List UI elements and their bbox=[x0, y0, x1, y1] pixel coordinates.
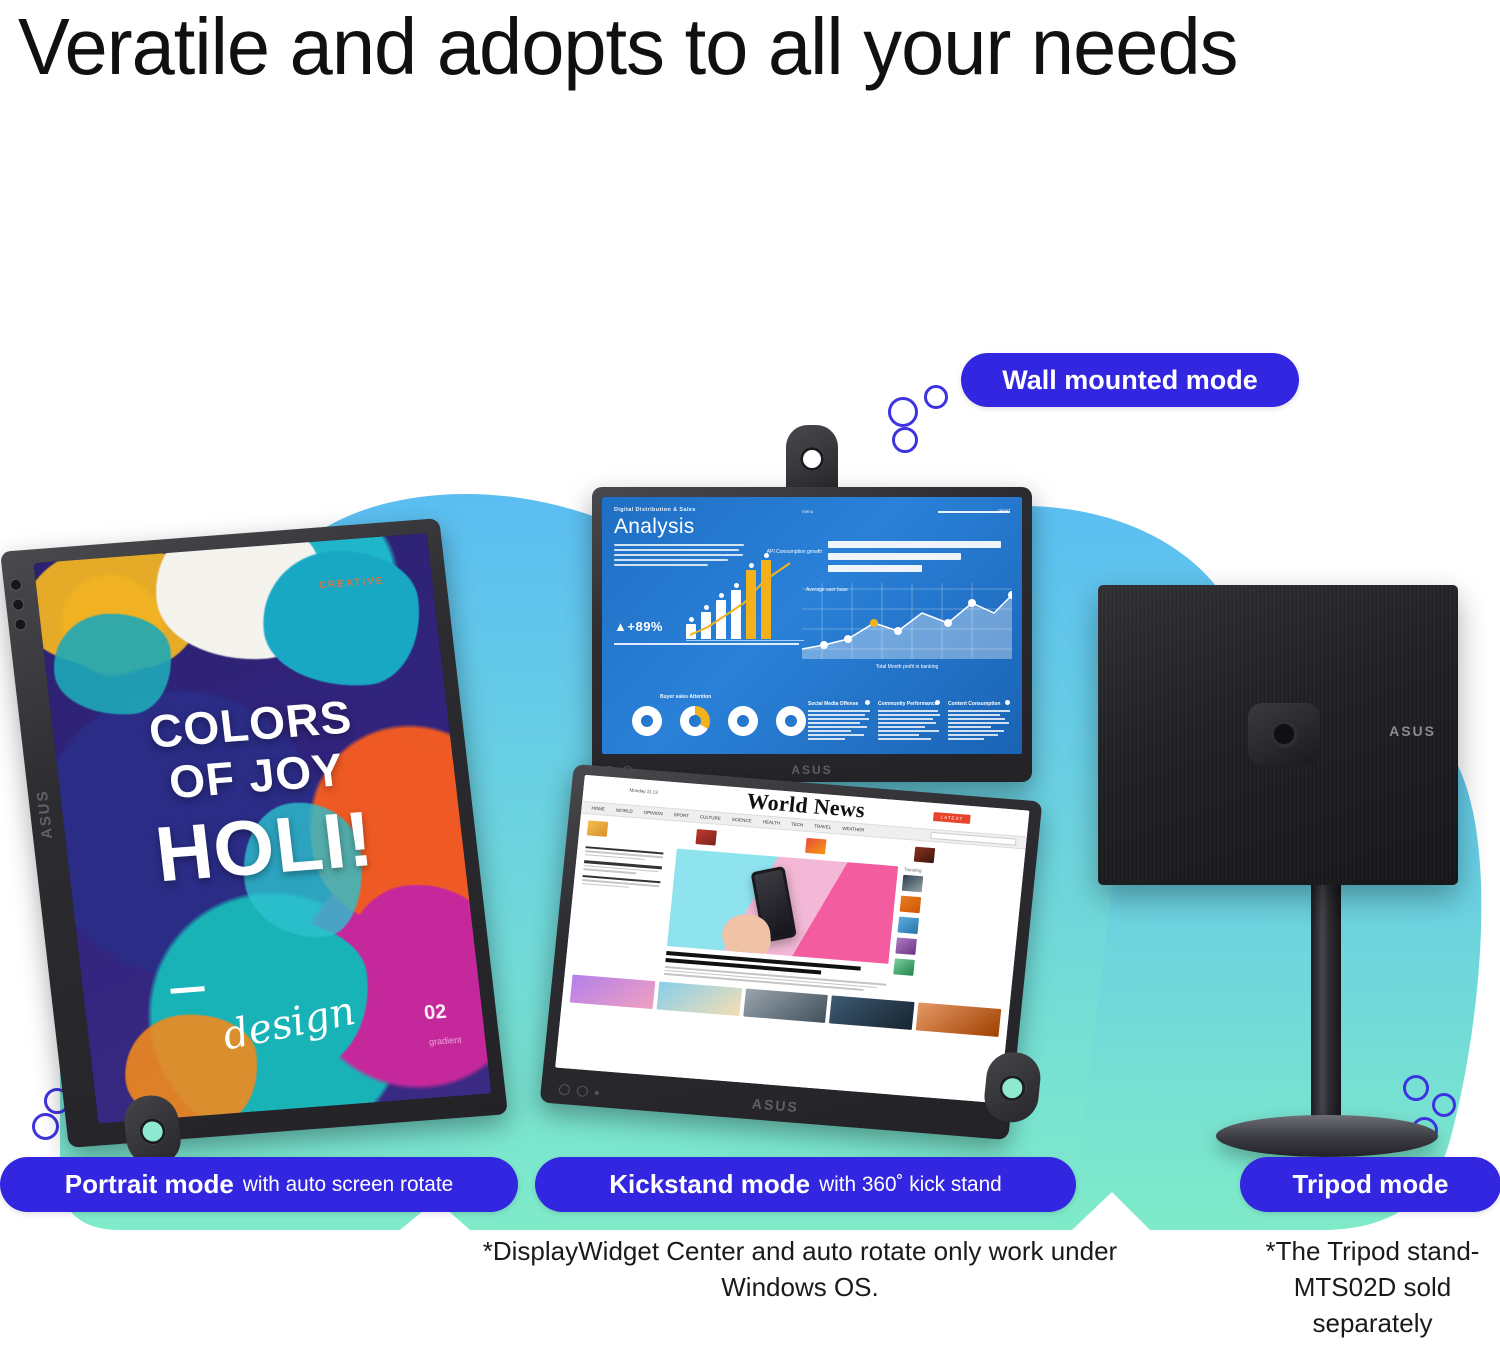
tripod-base bbox=[1216, 1115, 1438, 1157]
wall-mounted-monitor: Digital Distribution & Sales Analysis me… bbox=[592, 487, 1032, 782]
pill-bold-text: Tripod mode bbox=[1293, 1169, 1449, 1200]
hand-image bbox=[720, 912, 771, 960]
area-chart-footer: Total Month profit in banking bbox=[802, 664, 1012, 670]
vesa-mount bbox=[1248, 703, 1320, 765]
nav-item[interactable]: TECH bbox=[791, 822, 804, 828]
nav-item[interactable]: WORLD bbox=[616, 808, 633, 814]
column-title: Social Media Offense bbox=[808, 701, 870, 707]
artwork-text: COLORS OF JOY HOLI! bbox=[51, 684, 466, 901]
nav-item[interactable]: HEALTH bbox=[762, 819, 780, 825]
dashboard-trend-line bbox=[686, 555, 804, 641]
pill-bold-text: Wall mounted mode bbox=[1002, 365, 1258, 396]
story-item[interactable] bbox=[696, 829, 799, 852]
pill-normal-text: with auto screen rotate bbox=[243, 1173, 453, 1197]
donut-caption: Buyer sales Attention bbox=[660, 694, 711, 700]
asus-logo-bezel: ASUS bbox=[791, 763, 832, 777]
donut-3 bbox=[728, 706, 758, 736]
analysis-dashboard: Digital Distribution & Sales Analysis me… bbox=[602, 497, 1022, 754]
dashboard-donuts bbox=[632, 706, 806, 736]
artwork-number: 02 bbox=[423, 1000, 448, 1025]
column-title: Content Consumption bbox=[948, 701, 1010, 707]
news-screen: Monday 11.13 World News LATEST HOME WORL… bbox=[555, 775, 1029, 1103]
nav-item[interactable]: HOME bbox=[591, 806, 605, 812]
tripod-mode-monitor: ASUS bbox=[1098, 585, 1488, 1145]
news-hero-image bbox=[667, 849, 898, 964]
news-right-column: Trending bbox=[891, 867, 1015, 1004]
pill-bold-text: Portrait mode bbox=[65, 1169, 234, 1200]
dashboard-mid-label: menu bbox=[802, 509, 813, 514]
dashboard-area-chart: Average user base Total Month profit in … bbox=[802, 583, 1012, 659]
footnote-tripod: *The Tripod stand-MTS02D sold separately bbox=[1245, 1233, 1500, 1341]
column-title: Community Performance bbox=[878, 701, 940, 707]
label-tripod-mode: Tripod mode bbox=[1240, 1157, 1500, 1212]
footnote-kickstand: *DisplayWidget Center and auto rotate on… bbox=[470, 1233, 1130, 1305]
portrait-screen: CREATIVE COLORS OF JOY HOLI! design 02 g… bbox=[34, 533, 492, 1124]
dashboard-stat: ▲+89% bbox=[614, 619, 663, 634]
world-news-page: Monday 11.13 World News LATEST HOME WORL… bbox=[555, 775, 1029, 1103]
news-main-story[interactable] bbox=[664, 849, 898, 995]
dashboard-report-label: report bbox=[998, 508, 1010, 513]
pill-normal-text: with 360˚ kick stand bbox=[819, 1173, 1002, 1197]
story-item[interactable] bbox=[913, 847, 1016, 870]
story-item[interactable] bbox=[805, 838, 908, 861]
news-left-column bbox=[573, 841, 671, 976]
nav-item[interactable]: TRAVEL bbox=[814, 823, 832, 829]
dashboard-rule bbox=[614, 643, 799, 645]
story-item[interactable] bbox=[893, 958, 1005, 983]
nav-item[interactable]: OPINION bbox=[643, 810, 662, 817]
donut-1 bbox=[632, 706, 662, 736]
asus-logo-rear: ASUS bbox=[1389, 723, 1436, 739]
dashboard-screen: Digital Distribution & Sales Analysis me… bbox=[602, 497, 1022, 754]
nav-item[interactable]: CULTURE bbox=[700, 814, 721, 821]
nav-item[interactable]: WEATHER bbox=[842, 826, 865, 833]
dashboard-column: Community Performance bbox=[878, 701, 940, 742]
page-title: Veratile and adopts to all your needs bbox=[18, 2, 1444, 94]
story-item[interactable] bbox=[895, 937, 1007, 962]
monitor-rear-panel: ASUS bbox=[1098, 585, 1458, 885]
label-portrait-mode: Portrait mode with auto screen rotate bbox=[0, 1157, 518, 1212]
dashboard-column: Content Consumption bbox=[948, 701, 1010, 742]
news-date: Monday 11.13 bbox=[629, 788, 658, 795]
dashboard-column: Social Media Offense bbox=[808, 701, 870, 742]
label-kickstand-mode: Kickstand mode with 360˚ kick stand bbox=[535, 1157, 1076, 1212]
label-wall-mounted-mode: Wall mounted mode bbox=[961, 353, 1299, 407]
portrait-mode-monitor: ASUS CREATIVE COLORS OF JOY HOLI! design… bbox=[0, 518, 508, 1148]
news-badge: LATEST bbox=[933, 812, 970, 824]
story-item[interactable] bbox=[587, 820, 690, 843]
donut-2-highlight bbox=[680, 706, 710, 736]
area-chart-caption: Average user base bbox=[806, 587, 848, 593]
holi-artwork: CREATIVE COLORS OF JOY HOLI! design 02 g… bbox=[34, 533, 492, 1124]
dashboard-top-right: report bbox=[938, 508, 1010, 513]
dashboard-title: Analysis bbox=[614, 515, 1010, 539]
donut-4 bbox=[776, 706, 806, 736]
story-item[interactable] bbox=[898, 917, 1010, 942]
story-item[interactable] bbox=[900, 896, 1012, 921]
nav-item[interactable]: SPORT bbox=[673, 812, 689, 818]
nav-item[interactable]: SCIENCE bbox=[731, 817, 751, 824]
dashboard-hbars bbox=[828, 541, 1008, 577]
pill-bold-text: Kickstand mode bbox=[609, 1169, 810, 1200]
dashboard-columns: Social Media Offense Community Performan… bbox=[808, 701, 1010, 742]
hbars-caption: API Consumption growth bbox=[752, 549, 822, 555]
kickstand-mode-monitor: Monday 11.13 World News LATEST HOME WORL… bbox=[540, 764, 1043, 1140]
